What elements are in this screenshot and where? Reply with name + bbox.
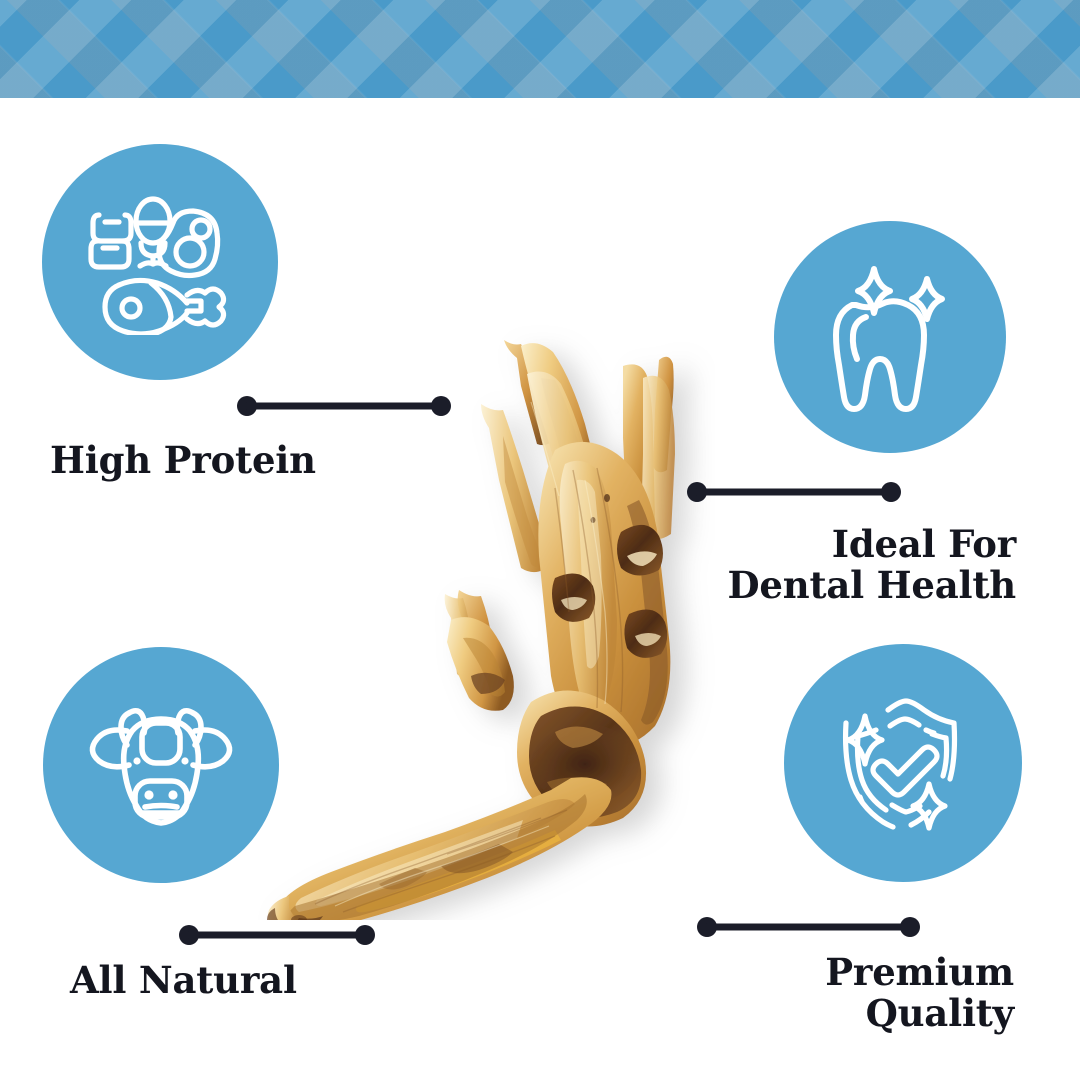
connector-bar <box>246 403 442 410</box>
sparkling-tooth-icon <box>814 261 966 413</box>
infographic-canvas: High Protein Ideal For Dental Health All… <box>0 0 1080 1080</box>
connector-all-natural <box>179 925 375 945</box>
connector-high-protein <box>237 396 451 416</box>
connector-dot-right <box>881 482 901 502</box>
feature-label-dental-health: Ideal For Dental Health <box>556 524 1016 607</box>
connector-dot-right <box>900 917 920 937</box>
connector-dental-health <box>687 482 901 502</box>
badge-all-natural <box>43 647 279 883</box>
connector-bar <box>188 932 366 939</box>
connector-dot-right <box>355 925 375 945</box>
meat-protein-icon <box>87 189 233 335</box>
shield-check-sparkle-icon <box>828 688 978 838</box>
feature-label-all-natural: All Natural <box>70 960 490 1001</box>
badge-high-protein <box>42 144 278 380</box>
connector-premium-quality <box>697 917 920 937</box>
badge-premium-quality <box>784 644 1022 882</box>
gingham-pattern-band <box>0 0 1080 98</box>
badge-dental-health <box>774 221 1006 453</box>
feature-label-premium-quality: Premium Quality <box>554 952 1014 1035</box>
feature-label-high-protein: High Protein <box>50 440 470 481</box>
connector-dot-right <box>431 396 451 416</box>
cow-head-icon <box>85 695 237 835</box>
connector-bar <box>706 924 911 931</box>
connector-bar <box>696 489 892 496</box>
